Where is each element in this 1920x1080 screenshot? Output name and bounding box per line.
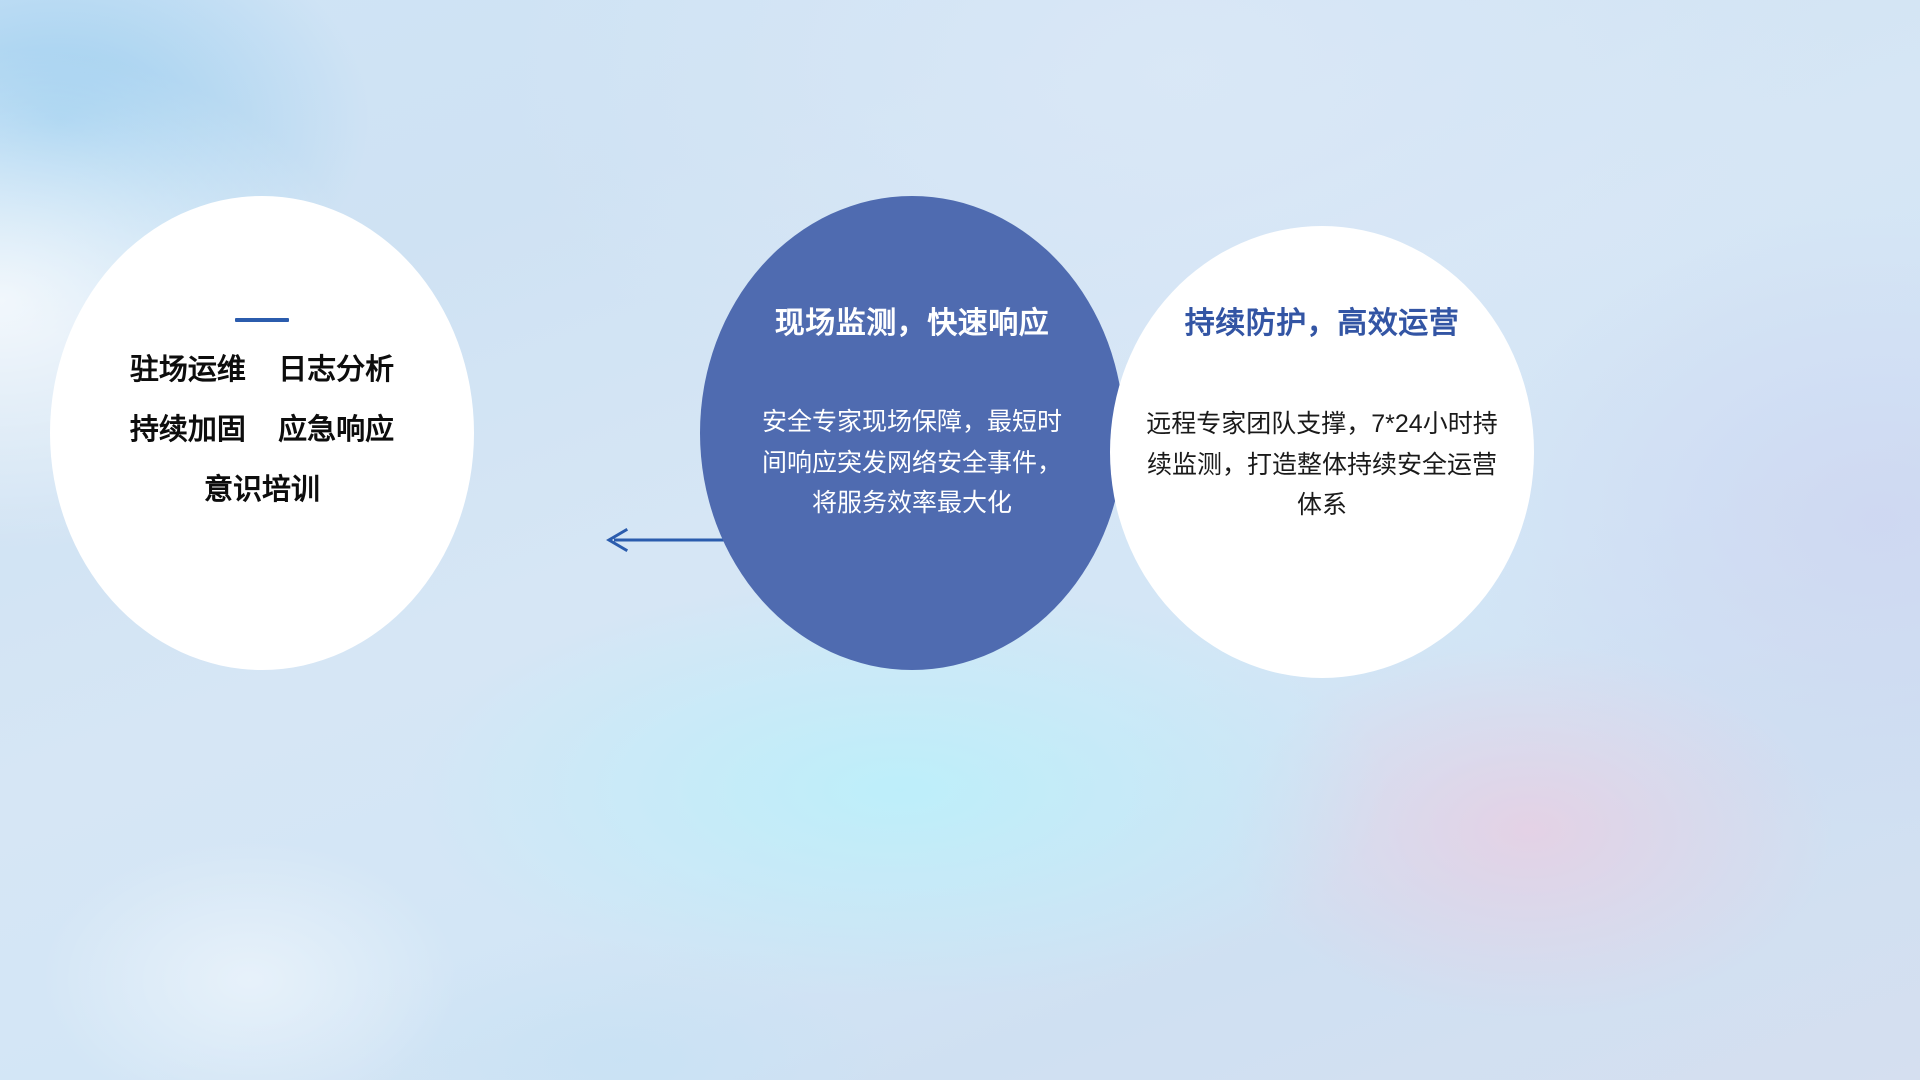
- middle-circle-body: 安全专家现场保障，最短时间响应突发网络安全事件，将服务效率最大化: [756, 402, 1068, 524]
- list-item: 意识培训: [50, 476, 474, 505]
- middle-circle-title: 现场监测，快速响应: [775, 298, 1050, 342]
- right-operations-circle[interactable]: 持续防护，高效运营 远程专家团队支撑，7*24小时持续监测，打造整体持续安全运营…: [1110, 226, 1534, 678]
- list-item: 驻场运维 日志分析: [50, 356, 474, 385]
- right-circle-body: 远程专家团队支撑，7*24小时持续监测，打造整体持续安全运营体系: [1144, 404, 1500, 526]
- list-item: 持续加固 应急响应: [50, 416, 474, 445]
- middle-onsite-circle[interactable]: 现场监测，快速响应 安全专家现场保障，最短时间响应突发网络安全事件，将服务效率最…: [700, 196, 1124, 670]
- left-capability-list: 驻场运维 日志分析 持续加固 应急响应 意识培训: [50, 356, 474, 505]
- left-capability-circle[interactable]: 驻场运维 日志分析 持续加固 应急响应 意识培训: [50, 196, 474, 670]
- divider-line: [235, 318, 289, 322]
- right-circle-title: 持续防护，高效运营: [1185, 298, 1460, 342]
